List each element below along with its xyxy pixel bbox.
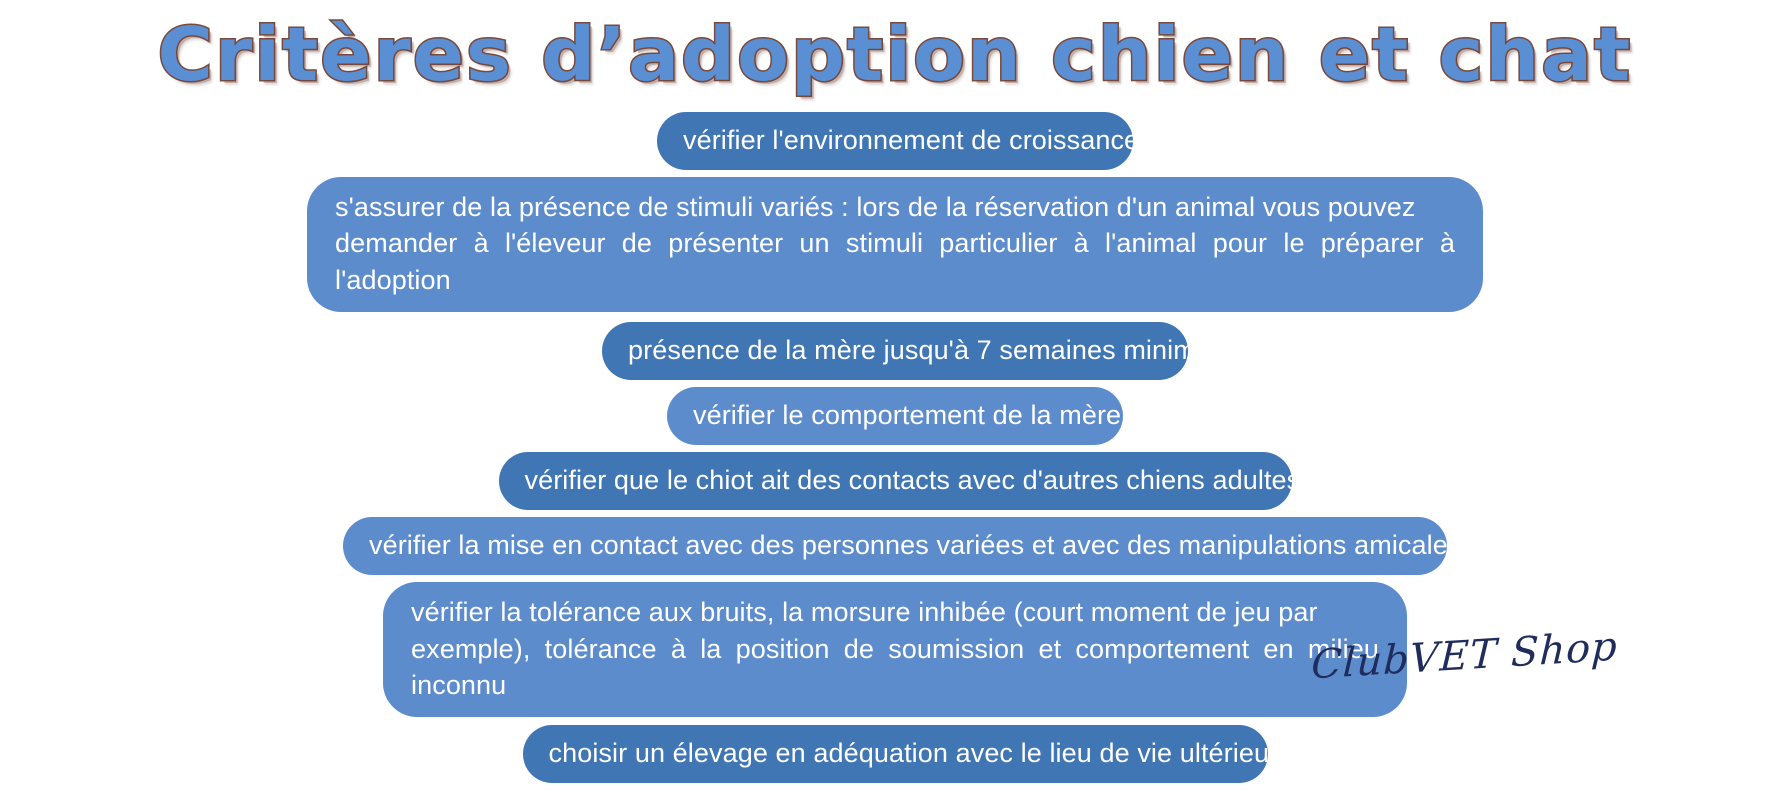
- criteria-bubble-7: vérifier la tolérance aux bruits, la mor…: [383, 582, 1407, 717]
- criteria-row: vérifier que le chiot ait des contacts a…: [0, 452, 1790, 510]
- criteria-row: vérifier la mise en contact avec des per…: [0, 517, 1790, 575]
- criteria-row: s'assurer de la présence de stimuli vari…: [0, 177, 1790, 312]
- criteria-bubble-6: vérifier la mise en contact avec des per…: [343, 517, 1447, 575]
- criteria-bubble-7-line-1: vérifier la tolérance aux bruits, la mor…: [411, 594, 1379, 630]
- page-title: Critères d’adoption chien et chat: [158, 14, 1633, 97]
- title-container: Critères d’adoption chien et chat: [0, 14, 1790, 97]
- criteria-bubble-1: vérifier l'environnement de croissance: [657, 112, 1133, 170]
- criteria-row: vérifier le comportement de la mère: [0, 387, 1790, 445]
- poster-canvas: Critères d’adoption chien et chat vérifi…: [0, 0, 1790, 804]
- criteria-bubble-5: vérifier que le chiot ait des contacts a…: [499, 452, 1292, 510]
- criteria-bubble-2-line-2: demander à l'éleveur de présenter un sti…: [335, 225, 1455, 297]
- criteria-bubble-8: choisir un élevage en adéquation avec le…: [523, 725, 1268, 783]
- criteria-bubble-3: présence de la mère jusqu'à 7 semaines m…: [602, 322, 1188, 380]
- criteria-list: vérifier l'environnement de croissance s…: [0, 112, 1790, 790]
- criteria-bubble-4: vérifier le comportement de la mère: [667, 387, 1123, 445]
- criteria-bubble-7-line-2: exemple), tolérance à la position de sou…: [411, 631, 1379, 703]
- criteria-bubble-2-line-1: s'assurer de la présence de stimuli vari…: [335, 189, 1455, 225]
- criteria-row: présence de la mère jusqu'à 7 semaines m…: [0, 322, 1790, 380]
- criteria-row: choisir un élevage en adéquation avec le…: [0, 725, 1790, 783]
- criteria-row: vérifier l'environnement de croissance: [0, 112, 1790, 170]
- criteria-bubble-2: s'assurer de la présence de stimuli vari…: [307, 177, 1483, 312]
